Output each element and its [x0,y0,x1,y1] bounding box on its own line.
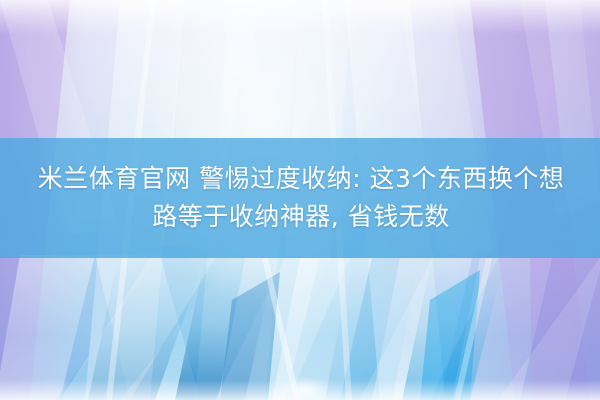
caption-band: 米兰体育官网 警惕过度收纳: 这3个东西换个想 路等于收纳神器, 省钱无数 [0,138,600,258]
caption-line-1: 米兰体育官网 警惕过度收纳: 这3个东西换个想 [36,160,565,198]
caption-line-2: 路等于收纳神器, 省钱无数 [150,198,449,236]
promo-banner: 米兰体育官网 警惕过度收纳: 这3个东西换个想 路等于收纳神器, 省钱无数 [0,0,600,400]
